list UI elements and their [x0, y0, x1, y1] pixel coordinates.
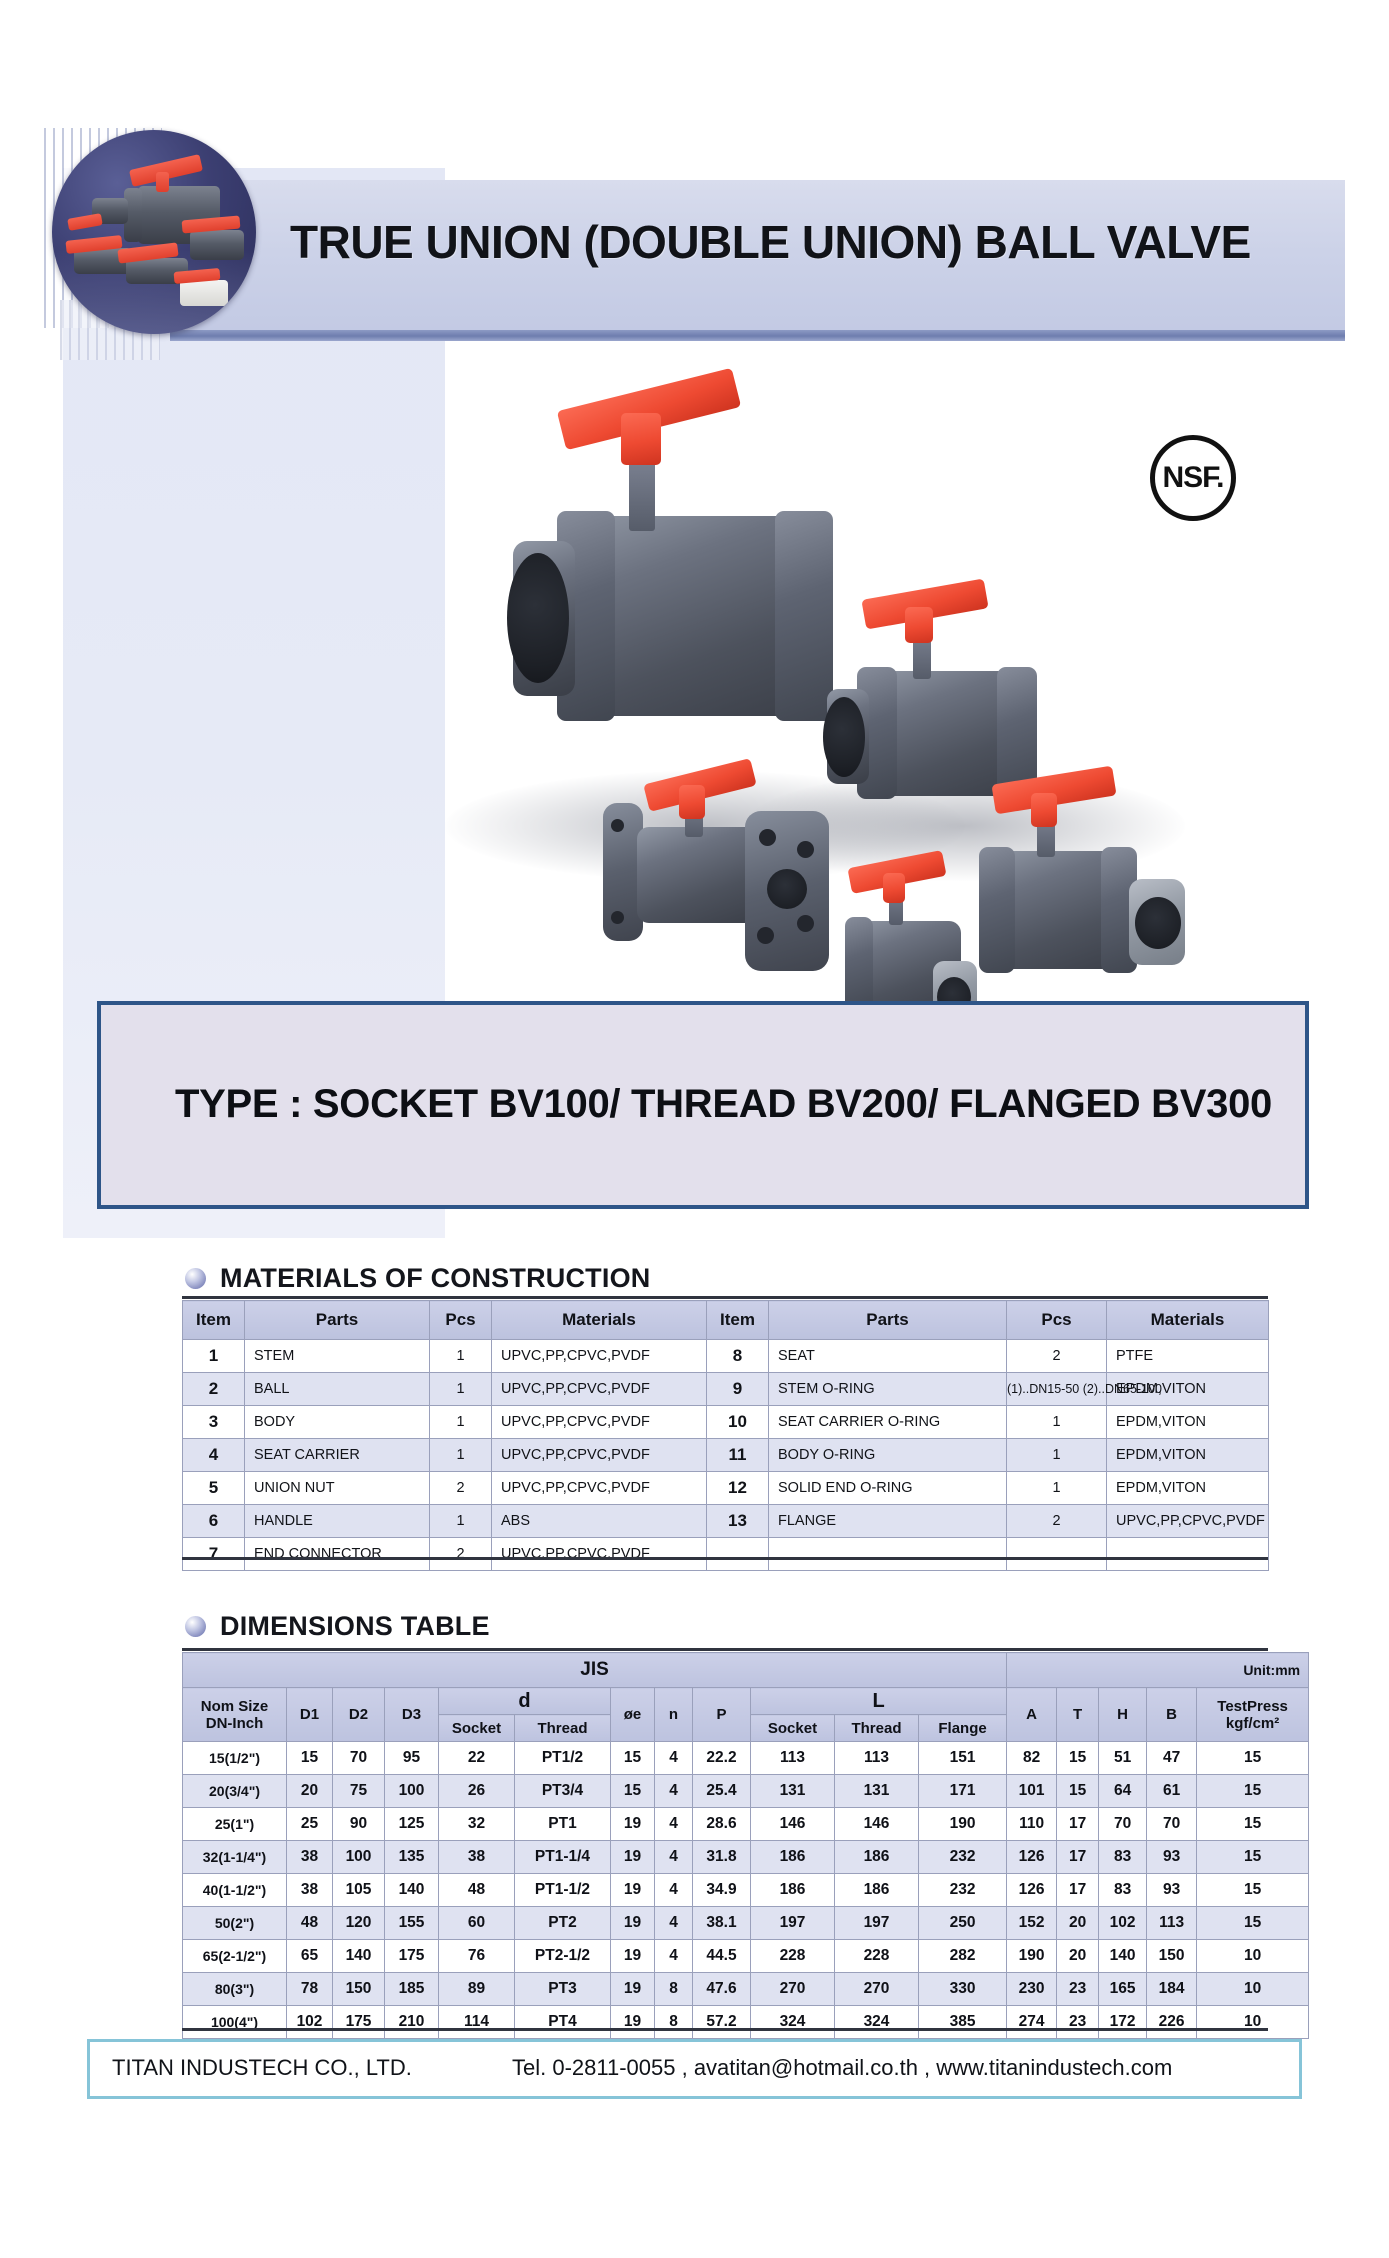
cell-b: 184	[1147, 1973, 1197, 2006]
col-d-group: d	[439, 1688, 611, 1715]
cell-d-thread: PT1/2	[515, 1742, 611, 1775]
cell-oe: 15	[611, 1742, 655, 1775]
cell-part-right: SOLID END O-RING	[769, 1472, 1007, 1505]
cell-material-right: EPDM,VITON	[1107, 1406, 1269, 1439]
cell-item-left: 3	[183, 1406, 245, 1439]
cell-d1: 48	[287, 1907, 333, 1940]
cell-testpress: 15	[1197, 1841, 1309, 1874]
cell-d3: 175	[385, 1940, 439, 1973]
cell-h: 172	[1099, 2006, 1147, 2039]
cell-d3: 95	[385, 1742, 439, 1775]
cell-part-right	[769, 1538, 1007, 1571]
cell-d2: 105	[333, 1874, 385, 1907]
nom-size-line1: Nom Size	[183, 1698, 286, 1715]
cell-testpress: 15	[1197, 1808, 1309, 1841]
cell-d3: 135	[385, 1841, 439, 1874]
cell-d3: 140	[385, 1874, 439, 1907]
col-testpress: TestPress kgf/cm²	[1197, 1688, 1309, 1742]
cell-material-right: EPDM,VITON	[1107, 1373, 1269, 1406]
col-l-socket: Socket	[751, 1715, 835, 1742]
cell-d3: 100	[385, 1775, 439, 1808]
cell-l-flange: 282	[919, 1940, 1007, 1973]
cell-testpress: 10	[1197, 2006, 1309, 2039]
cell-oe: 19	[611, 1808, 655, 1841]
materials-table-header-row: Item Parts Pcs Materials Item Parts Pcs …	[183, 1301, 1269, 1340]
cell-p: 38.1	[693, 1907, 751, 1940]
cell-p: 31.8	[693, 1841, 751, 1874]
cell-d3: 155	[385, 1907, 439, 1940]
cell-oe: 19	[611, 1841, 655, 1874]
col-d-thread: Thread	[515, 1715, 611, 1742]
cell-testpress: 10	[1197, 1940, 1309, 1973]
materials-table-row: 7END CONNECTOR2UPVC,PP,CPVC,PVDF	[183, 1538, 1269, 1571]
cell-oe: 19	[611, 1940, 655, 1973]
cell-d3: 210	[385, 2006, 439, 2039]
cell-d-socket: 26	[439, 1775, 515, 1808]
cell-nom-size: 32(1-1/4")	[183, 1841, 287, 1874]
cell-a: 82	[1007, 1742, 1057, 1775]
nsf-label: NSF.	[1150, 435, 1236, 521]
cell-d1: 38	[287, 1841, 333, 1874]
cell-oe: 19	[611, 2006, 655, 2039]
cell-l-flange: 232	[919, 1874, 1007, 1907]
sphere-bullet-icon	[185, 1616, 206, 1637]
materials-table-row: 5UNION NUT2UPVC,PP,CPVC,PVDF12SOLID END …	[183, 1472, 1269, 1505]
cell-a: 101	[1007, 1775, 1057, 1808]
cell-item-right: 8	[707, 1340, 769, 1373]
cell-d2: 100	[333, 1841, 385, 1874]
materials-table-row: 4SEAT CARRIER1UPVC,PP,CPVC,PVDF11BODY O-…	[183, 1439, 1269, 1472]
footer-company-name: TITAN INDUSTECH CO., LTD.	[112, 2055, 412, 2081]
cell-d2: 150	[333, 1973, 385, 2006]
cell-d1: 102	[287, 2006, 333, 2039]
col-p: P	[693, 1688, 751, 1742]
cell-p: 47.6	[693, 1973, 751, 2006]
cell-l-socket: 197	[751, 1907, 835, 1940]
cell-t: 17	[1057, 1874, 1099, 1907]
cell-part-left: BALL	[245, 1373, 430, 1406]
cell-pcs-right: 1	[1007, 1472, 1107, 1505]
dimensions-table-row: 25(1")259012532PT119428.6146146190110177…	[183, 1808, 1309, 1841]
cell-item-right: 12	[707, 1472, 769, 1505]
col-d-socket: Socket	[439, 1715, 515, 1742]
cell-l-thread: 131	[835, 1775, 919, 1808]
materials-table-row: 6HANDLE1ABS13FLANGE2UPVC,PP,CPVC,PVDF	[183, 1505, 1269, 1538]
header-underline	[170, 330, 1345, 341]
cell-n: 4	[655, 1742, 693, 1775]
col-h: H	[1099, 1688, 1147, 1742]
cell-testpress: 15	[1197, 1907, 1309, 1940]
cell-t: 15	[1057, 1775, 1099, 1808]
cell-t: 17	[1057, 1841, 1099, 1874]
dimensions-table: JIS Unit:mm Nom Size DN-Inch D1 D2 D3 d …	[182, 1652, 1268, 2039]
cell-pcs-left: 2	[430, 1472, 492, 1505]
cell-l-socket: 186	[751, 1874, 835, 1907]
cell-part-left: STEM	[245, 1340, 430, 1373]
cell-d1: 20	[287, 1775, 333, 1808]
cell-item-right: 11	[707, 1439, 769, 1472]
cell-p: 44.5	[693, 1940, 751, 1973]
cell-l-socket: 324	[751, 2006, 835, 2039]
col-b: B	[1147, 1688, 1197, 1742]
cell-h: 140	[1099, 1940, 1147, 1973]
cell-b: 47	[1147, 1742, 1197, 1775]
cell-n: 4	[655, 1907, 693, 1940]
testpress-line2: kgf/cm²	[1197, 1715, 1308, 1732]
cell-l-flange: 250	[919, 1907, 1007, 1940]
col-l-group: L	[751, 1688, 1007, 1715]
cell-part-left: END CONNECTOR	[245, 1538, 430, 1571]
cell-d2: 120	[333, 1907, 385, 1940]
cell-p: 22.2	[693, 1742, 751, 1775]
col-parts-right: Parts	[769, 1301, 1007, 1340]
col-l-thread: Thread	[835, 1715, 919, 1742]
cell-oe: 19	[611, 1907, 655, 1940]
cell-item-left: 4	[183, 1439, 245, 1472]
cell-pcs-right: 2	[1007, 1340, 1107, 1373]
cell-d1: 25	[287, 1808, 333, 1841]
cell-part-right: STEM O-RING	[769, 1373, 1007, 1406]
cell-d1: 15	[287, 1742, 333, 1775]
unit-label: Unit:mm	[1007, 1653, 1309, 1688]
col-d2: D2	[333, 1688, 385, 1742]
cell-a: 274	[1007, 2006, 1057, 2039]
cell-a: 190	[1007, 1940, 1057, 1973]
cell-d-socket: 76	[439, 1940, 515, 1973]
cell-nom-size: 25(1")	[183, 1808, 287, 1841]
cell-b: 226	[1147, 2006, 1197, 2039]
cell-d-thread: PT2-1/2	[515, 1940, 611, 1973]
cell-part-right: BODY O-RING	[769, 1439, 1007, 1472]
cell-material-left: UPVC,PP,CPVC,PVDF	[492, 1406, 707, 1439]
cell-pcs-left: 1	[430, 1373, 492, 1406]
cell-d-thread: PT1-1/4	[515, 1841, 611, 1874]
datasheet-page: TRUE UNION (DOUBLE UNION) BALL VALVE	[0, 0, 1389, 2258]
cell-t: 23	[1057, 1973, 1099, 2006]
cell-l-thread: 146	[835, 1808, 919, 1841]
col-materials-left: Materials	[492, 1301, 707, 1340]
cell-oe: 19	[611, 1973, 655, 2006]
cell-material-left: UPVC,PP,CPVC,PVDF	[492, 1538, 707, 1571]
cell-item-left: 7	[183, 1538, 245, 1571]
cell-material-left: UPVC,PP,CPVC,PVDF	[492, 1472, 707, 1505]
cell-l-thread: 113	[835, 1742, 919, 1775]
materials-table-bottom-rule	[182, 1557, 1268, 1560]
cell-oe: 15	[611, 1775, 655, 1808]
cell-nom-size: 40(1-1/2")	[183, 1874, 287, 1907]
cell-l-socket: 228	[751, 1940, 835, 1973]
cell-b: 93	[1147, 1841, 1197, 1874]
cell-n: 4	[655, 1775, 693, 1808]
cell-pcs-left: 1	[430, 1406, 492, 1439]
cell-t: 20	[1057, 1907, 1099, 1940]
cell-d1: 78	[287, 1973, 333, 2006]
cell-t: 15	[1057, 1742, 1099, 1775]
cell-item-left: 2	[183, 1373, 245, 1406]
cell-d-socket: 22	[439, 1742, 515, 1775]
cell-nom-size: 15(1/2")	[183, 1742, 287, 1775]
cell-testpress: 15	[1197, 1874, 1309, 1907]
cell-h: 70	[1099, 1808, 1147, 1841]
cell-p: 28.6	[693, 1808, 751, 1841]
dimensions-table-row: 20(3/4")207510026PT3/415425.413113117110…	[183, 1775, 1309, 1808]
testpress-line1: TestPress	[1197, 1698, 1308, 1715]
cell-item-right: 9	[707, 1373, 769, 1406]
cell-d2: 90	[333, 1808, 385, 1841]
col-d1: D1	[287, 1688, 333, 1742]
dimensions-table-row: 65(2-1/2")6514017576PT2-1/219444.5228228…	[183, 1940, 1309, 1973]
cell-pcs-right: (1)..DN15-50 (2)..DN65-100	[1007, 1373, 1107, 1406]
cell-part-left: UNION NUT	[245, 1472, 430, 1505]
dimensions-table-bottom-rule	[182, 2028, 1268, 2031]
cell-l-socket: 186	[751, 1841, 835, 1874]
cell-h: 64	[1099, 1775, 1147, 1808]
cell-d2: 140	[333, 1940, 385, 1973]
cell-d-socket: 114	[439, 2006, 515, 2039]
cell-l-socket: 270	[751, 1973, 835, 2006]
col-parts-left: Parts	[245, 1301, 430, 1340]
cell-l-flange: 151	[919, 1742, 1007, 1775]
cell-l-socket: 113	[751, 1742, 835, 1775]
cell-oe: 19	[611, 1874, 655, 1907]
cell-n: 4	[655, 1841, 693, 1874]
cell-item-right: 10	[707, 1406, 769, 1439]
cell-material-right: EPDM,VITON	[1107, 1439, 1269, 1472]
footer-contact-info: Tel. 0-2811-0055 , avatitan@hotmail.co.t…	[512, 2055, 1172, 2081]
col-t: T	[1057, 1688, 1099, 1742]
cell-d2: 70	[333, 1742, 385, 1775]
cell-material-left: UPVC,PP,CPVC,PVDF	[492, 1340, 707, 1373]
cell-testpress: 15	[1197, 1742, 1309, 1775]
cell-l-thread: 186	[835, 1874, 919, 1907]
cell-l-flange: 330	[919, 1973, 1007, 2006]
cell-nom-size: 20(3/4")	[183, 1775, 287, 1808]
cell-n: 8	[655, 1973, 693, 2006]
materials-table-row: 3BODY1UPVC,PP,CPVC,PVDF10SEAT CARRIER O-…	[183, 1406, 1269, 1439]
cell-pcs-left: 1	[430, 1340, 492, 1373]
cell-item-left: 6	[183, 1505, 245, 1538]
cell-t: 23	[1057, 2006, 1099, 2039]
cell-h: 83	[1099, 1841, 1147, 1874]
cell-b: 61	[1147, 1775, 1197, 1808]
col-pcs-left: Pcs	[430, 1301, 492, 1340]
cell-material-left: ABS	[492, 1505, 707, 1538]
cell-testpress: 15	[1197, 1775, 1309, 1808]
cell-material-right: EPDM,VITON	[1107, 1472, 1269, 1505]
cell-pcs-right: 1	[1007, 1406, 1107, 1439]
materials-table-row: 1STEM1UPVC,PP,CPVC,PVDF8SEAT2PTFE	[183, 1340, 1269, 1373]
cell-l-thread: 197	[835, 1907, 919, 1940]
cell-material-right: PTFE	[1107, 1340, 1269, 1373]
cell-part-left: BODY	[245, 1406, 430, 1439]
cell-d3: 185	[385, 1973, 439, 2006]
cell-l-flange: 232	[919, 1841, 1007, 1874]
dimensions-standard-row: JIS Unit:mm	[183, 1653, 1309, 1688]
cell-d3: 125	[385, 1808, 439, 1841]
cell-n: 8	[655, 2006, 693, 2039]
cell-d-socket: 60	[439, 1907, 515, 1940]
cell-material-left: UPVC,PP,CPVC,PVDF	[492, 1373, 707, 1406]
cell-nom-size: 80(3")	[183, 1973, 287, 2006]
cell-h: 83	[1099, 1874, 1147, 1907]
col-item-right: Item	[707, 1301, 769, 1340]
cell-d-thread: PT3/4	[515, 1775, 611, 1808]
cell-nom-size: 100(4")	[183, 2006, 287, 2039]
cell-d-thread: PT1-1/2	[515, 1874, 611, 1907]
cell-part-left: SEAT CARRIER	[245, 1439, 430, 1472]
materials-table-row: 2BALL1UPVC,PP,CPVC,PVDF9STEM O-RING(1)..…	[183, 1373, 1269, 1406]
cell-l-thread: 270	[835, 1973, 919, 2006]
cell-b: 150	[1147, 1940, 1197, 1973]
nsf-certification-icon: NSF.	[1150, 435, 1236, 521]
materials-heading-label: MATERIALS OF CONSTRUCTION	[220, 1263, 650, 1294]
cell-l-flange: 171	[919, 1775, 1007, 1808]
dimensions-section-heading: DIMENSIONS TABLE	[185, 1611, 490, 1642]
cell-l-thread: 228	[835, 1940, 919, 1973]
col-pcs-right: Pcs	[1007, 1301, 1107, 1340]
standard-label: JIS	[183, 1653, 1007, 1688]
materials-table-top-rule	[182, 1296, 1268, 1299]
col-materials-right: Materials	[1107, 1301, 1269, 1340]
cell-pcs-left: 1	[430, 1505, 492, 1538]
cell-d-thread: PT3	[515, 1973, 611, 2006]
cell-d2: 75	[333, 1775, 385, 1808]
cell-pcs-left: 2	[430, 1538, 492, 1571]
cell-testpress: 10	[1197, 1973, 1309, 2006]
cell-p: 34.9	[693, 1874, 751, 1907]
cell-pcs-right: 1	[1007, 1439, 1107, 1472]
cell-h: 102	[1099, 1907, 1147, 1940]
cell-d-socket: 89	[439, 1973, 515, 2006]
col-item-left: Item	[183, 1301, 245, 1340]
dimensions-table-row: 40(1-1/2")3810514048PT1-1/219434.9186186…	[183, 1874, 1309, 1907]
cell-material-right	[1107, 1538, 1269, 1571]
sphere-bullet-icon	[185, 1268, 206, 1289]
cell-part-left: HANDLE	[245, 1505, 430, 1538]
cell-l-socket: 131	[751, 1775, 835, 1808]
cell-d1: 65	[287, 1940, 333, 1973]
cell-b: 93	[1147, 1874, 1197, 1907]
cell-d-thread: PT4	[515, 2006, 611, 2039]
cell-material-right: UPVC,PP,CPVC,PVDF	[1107, 1505, 1269, 1538]
materials-section-heading: MATERIALS OF CONSTRUCTION	[185, 1263, 650, 1294]
cell-b: 113	[1147, 1907, 1197, 1940]
col-n: n	[655, 1688, 693, 1742]
dimensions-table-row: 50(2")4812015560PT219438.119719725015220…	[183, 1907, 1309, 1940]
cell-nom-size: 50(2")	[183, 1907, 287, 1940]
cell-l-flange: 385	[919, 2006, 1007, 2039]
dimensions-heading-label: DIMENSIONS TABLE	[220, 1611, 490, 1642]
cell-n: 4	[655, 1940, 693, 1973]
cell-t: 20	[1057, 1940, 1099, 1973]
dimensions-header-row-1: Nom Size DN-Inch D1 D2 D3 d øe n P L A T…	[183, 1688, 1309, 1715]
cell-p: 57.2	[693, 2006, 751, 2039]
cell-item-left: 5	[183, 1472, 245, 1505]
dimensions-table-row: 80(3")7815018589PT319847.627027033023023…	[183, 1973, 1309, 2006]
col-oe: øe	[611, 1688, 655, 1742]
cell-p: 25.4	[693, 1775, 751, 1808]
cell-d-socket: 38	[439, 1841, 515, 1874]
cell-l-thread: 324	[835, 2006, 919, 2039]
cell-l-flange: 190	[919, 1808, 1007, 1841]
cell-d-thread: PT1	[515, 1808, 611, 1841]
cell-l-socket: 146	[751, 1808, 835, 1841]
cell-d-thread: PT2	[515, 1907, 611, 1940]
cell-nom-size: 65(2-1/2")	[183, 1940, 287, 1973]
cell-a: 110	[1007, 1808, 1057, 1841]
cell-a: 126	[1007, 1841, 1057, 1874]
cell-a: 152	[1007, 1907, 1057, 1940]
page-title: TRUE UNION (DOUBLE UNION) BALL VALVE	[290, 215, 1250, 269]
col-l-flange: Flange	[919, 1715, 1007, 1742]
cell-n: 4	[655, 1808, 693, 1841]
col-a: A	[1007, 1688, 1057, 1742]
cell-b: 70	[1147, 1808, 1197, 1841]
materials-table: Item Parts Pcs Materials Item Parts Pcs …	[182, 1300, 1268, 1571]
ball-valve-photo-icon	[52, 130, 256, 334]
cell-a: 126	[1007, 1874, 1057, 1907]
cell-part-right: FLANGE	[769, 1505, 1007, 1538]
nom-size-line2: DN-Inch	[183, 1715, 286, 1732]
col-d3: D3	[385, 1688, 439, 1742]
cell-item-left: 1	[183, 1340, 245, 1373]
cell-pcs-left: 1	[430, 1439, 492, 1472]
cell-item-right	[707, 1538, 769, 1571]
cell-d2: 175	[333, 2006, 385, 2039]
cell-pcs-right: 2	[1007, 1505, 1107, 1538]
dimensions-table-row: 100(4")102175210114PT419857.232432438527…	[183, 2006, 1309, 2039]
cell-pcs-right	[1007, 1538, 1107, 1571]
cell-n: 4	[655, 1874, 693, 1907]
col-nom-size: Nom Size DN-Inch	[183, 1688, 287, 1742]
cell-t: 17	[1057, 1808, 1099, 1841]
dimensions-table-row: 32(1-1/4")3810013538PT1-1/419431.8186186…	[183, 1841, 1309, 1874]
cell-h: 165	[1099, 1973, 1147, 2006]
type-banner-text: TYPE : SOCKET BV100/ THREAD BV200/ FLANG…	[175, 1082, 1255, 1127]
cell-l-thread: 186	[835, 1841, 919, 1874]
cell-material-left: UPVC,PP,CPVC,PVDF	[492, 1439, 707, 1472]
cell-h: 51	[1099, 1742, 1147, 1775]
cell-a: 230	[1007, 1973, 1057, 2006]
dimensions-table-top-rule	[182, 1648, 1268, 1651]
cell-part-right: SEAT	[769, 1340, 1007, 1373]
cell-part-right: SEAT CARRIER O-RING	[769, 1406, 1007, 1439]
cell-item-right: 13	[707, 1505, 769, 1538]
cell-d-socket: 48	[439, 1874, 515, 1907]
cell-d1: 38	[287, 1874, 333, 1907]
cell-d-socket: 32	[439, 1808, 515, 1841]
dimensions-table-row: 15(1/2")15709522PT1/215422.2113113151821…	[183, 1742, 1309, 1775]
